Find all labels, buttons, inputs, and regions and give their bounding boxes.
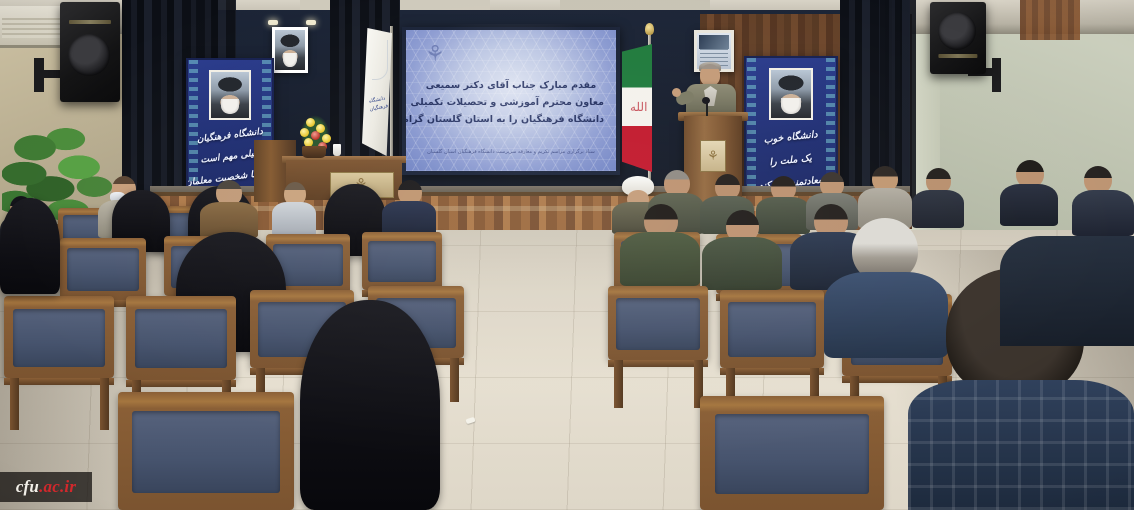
portrait-beard	[283, 53, 297, 67]
chair-cushion	[728, 302, 815, 357]
attendee-back-row	[1000, 236, 1134, 346]
framed-portrait	[272, 27, 308, 73]
torso	[272, 202, 316, 236]
chair-cushion	[135, 309, 227, 368]
water-cup	[333, 144, 341, 156]
chair-rail	[126, 380, 236, 387]
chair-cushion	[67, 248, 139, 291]
wood-wall-panel-corner	[1020, 0, 1080, 40]
microphone-icon	[702, 97, 710, 104]
university-crest-icon: ⚘	[422, 42, 448, 72]
podium-speaker-head	[700, 64, 720, 86]
watermark-secondary: .ac.ir	[39, 477, 76, 497]
allah-emblem-icon: الله	[630, 100, 642, 114]
attendee-olive-jacket-mid2	[702, 210, 782, 290]
screen-line-2: معاون محترم آموزشی و تحصیلات تکمیلی	[418, 94, 604, 111]
podium-speaker-hand	[672, 88, 681, 97]
table-row	[126, 296, 236, 380]
table-row	[700, 396, 884, 510]
flower-blossom	[306, 118, 315, 127]
chair-rail	[4, 378, 114, 385]
table-row	[720, 290, 824, 368]
university-crest-icon: ⚘	[706, 148, 720, 164]
attendee-chador-foreground	[300, 300, 440, 510]
chair-leg	[450, 358, 459, 402]
attendee-brown-jacket	[200, 180, 258, 238]
flower-blossom	[300, 128, 309, 137]
torso	[382, 201, 436, 236]
conference-hall-photo: ⚘ مقدم مبارک جناب آقای دکتر سمیعی معاون …	[0, 0, 1134, 510]
flower-blossom	[311, 131, 320, 140]
attendee-far-right-back	[1000, 160, 1058, 226]
speaker-cone	[938, 12, 976, 50]
chair-cushion	[13, 309, 105, 366]
speaker-brand-strip	[938, 54, 977, 58]
flower-vase	[302, 146, 326, 158]
table-row	[4, 296, 114, 378]
torso	[1000, 236, 1134, 346]
chair-cushion	[132, 411, 280, 494]
portrait-beard	[781, 98, 800, 114]
attendee-chador-left-foreground	[0, 198, 60, 294]
screen-line-3: دانشگاه فرهنگیان را به استان گلستان گرام…	[418, 111, 604, 128]
ceiling-spotlight	[268, 20, 278, 25]
speaker-cone	[68, 34, 110, 76]
screen-footer-text: ستاد برگزاری مراسم تکریم و معارفه سرپرست…	[416, 148, 606, 156]
speaker-brand-strip	[69, 20, 111, 24]
torso	[1072, 190, 1134, 236]
table-row	[118, 392, 294, 510]
screen-message: مقدم مبارک جناب آقای دکتر سمیعی معاون مح…	[418, 77, 604, 128]
chair-leg	[100, 378, 109, 430]
microphone-stand	[706, 102, 708, 116]
torso	[1000, 184, 1058, 226]
torso	[908, 380, 1134, 510]
chair-leg	[614, 360, 623, 408]
portrait-imam-khomeini-icon	[769, 68, 813, 120]
torso	[620, 232, 700, 286]
screen-line-1: مقدم مبارک جناب آقای دکتر سمیعی	[418, 77, 604, 94]
wall-speaker-left-icon	[60, 2, 120, 102]
ac-vents	[2, 18, 68, 38]
chair-leg	[10, 378, 19, 430]
flag-finial-icon	[645, 23, 654, 35]
table-row	[608, 286, 708, 360]
site-watermark: cfu.ac.ir	[0, 472, 92, 502]
chair-rail	[608, 360, 708, 367]
attendee-navy-suit-left	[382, 180, 436, 236]
chair-cushion	[368, 241, 435, 282]
torso	[702, 237, 782, 290]
poster-image	[699, 35, 729, 49]
chair-rail	[720, 368, 824, 375]
table-row	[60, 238, 146, 300]
attendee-corner-right	[1072, 166, 1134, 236]
portrait-supreme-leader-icon	[209, 70, 251, 120]
watermark-primary: cfu	[16, 477, 39, 497]
hanging-cable	[372, 40, 388, 80]
wall-speaker-right-icon	[930, 2, 986, 74]
chair-cushion	[616, 298, 700, 350]
table-row	[362, 232, 442, 290]
attendee-olive-jacket-mid	[620, 204, 700, 286]
chair-cushion	[715, 414, 870, 494]
ceiling-spotlight	[306, 20, 316, 25]
projection-screen: ⚘ مقدم مبارک جناب آقای دکتر سمیعی معاون …	[406, 30, 616, 171]
attendee-light-shirt	[272, 182, 316, 236]
